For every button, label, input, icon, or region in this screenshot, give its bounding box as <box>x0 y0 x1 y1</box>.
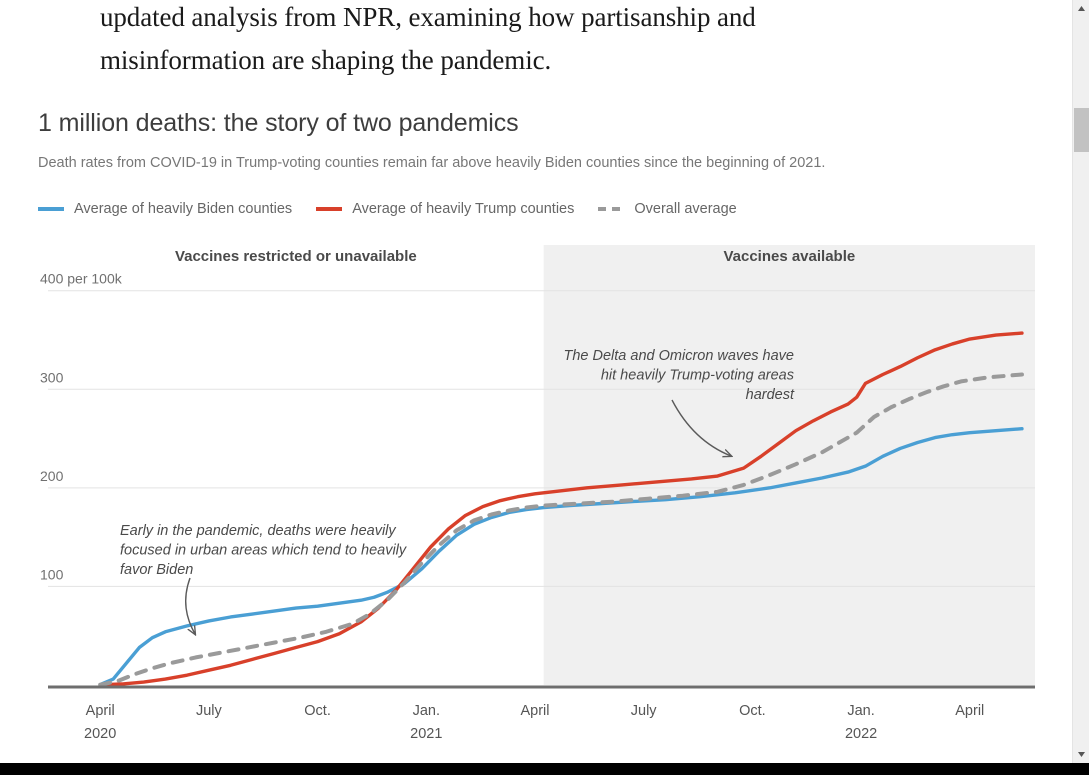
y-axis-tick-label: 300 <box>40 369 64 385</box>
x-axis-tick-label: Oct. <box>739 703 766 719</box>
chart-legend: Average of heavily Biden countiesAverage… <box>38 201 1048 217</box>
x-axis-tick-label: Jan. <box>847 703 874 719</box>
left-page-gutter <box>0 0 14 763</box>
x-axis-year-label: 2021 <box>410 726 442 742</box>
legend-swatch-icon <box>38 207 64 211</box>
x-axis-tick-label: April <box>86 703 115 719</box>
chart-card: 1 million deaths: the story of two pande… <box>38 108 1048 755</box>
x-axis-tick-label: July <box>631 703 658 719</box>
x-axis-tick-label: Jan. <box>413 703 440 719</box>
y-axis-tick-label: 100 <box>40 566 64 582</box>
scroll-up-arrow-icon[interactable] <box>1073 0 1089 17</box>
legend-item-label: Average of heavily Trump counties <box>352 201 574 217</box>
scroll-down-arrow-icon[interactable] <box>1073 746 1089 763</box>
chevron-up-icon <box>1077 5 1086 12</box>
x-axis-tick-label: April <box>520 703 549 719</box>
legend-item-label: Overall average <box>634 201 736 217</box>
chart-title: 1 million deaths: the story of two pande… <box>38 108 1048 138</box>
x-axis-tick-label: Oct. <box>304 703 331 719</box>
chart-annotation-line: favor Biden <box>120 562 193 578</box>
chart-annotation-line: hit heavily Trump-voting areas <box>601 368 794 384</box>
chart-annotation-line: Early in the pandemic, deaths were heavi… <box>120 523 396 539</box>
legend-item[interactable]: Overall average <box>598 201 736 217</box>
legend-swatch-icon <box>598 207 624 211</box>
legend-item[interactable]: Average of heavily Biden counties <box>38 201 292 217</box>
chevron-down-icon <box>1077 751 1086 758</box>
line-chart: 100200300400 per 100kVaccines restricted… <box>38 235 1048 755</box>
legend-swatch-icon <box>316 207 342 211</box>
chart-annotation-line: The Delta and Omicron waves have <box>564 348 795 364</box>
y-axis-tick-label: 200 <box>40 468 64 484</box>
x-axis-tick-label: April <box>955 703 984 719</box>
article-paragraph-text: updated analysis from NPR, examining how… <box>100 0 840 82</box>
x-axis-year-label: 2022 <box>845 726 877 742</box>
vertical-scrollbar[interactable] <box>1072 0 1089 763</box>
legend-item[interactable]: Average of heavily Trump counties <box>316 201 574 217</box>
chart-band-label: Vaccines restricted or unavailable <box>175 248 417 265</box>
article-paragraph: updated analysis from NPR, examining how… <box>100 0 840 82</box>
page-root: updated analysis from NPR, examining how… <box>0 0 1089 775</box>
x-axis-year-label: 2020 <box>84 726 116 742</box>
chart-plot-area: 100200300400 per 100kVaccines restricted… <box>38 235 1048 755</box>
scrollbar-thumb[interactable] <box>1074 108 1089 152</box>
chart-annotation-line: hardest <box>746 387 795 403</box>
legend-item-label: Average of heavily Biden counties <box>74 201 292 217</box>
y-axis-tick-label: 400 per 100k <box>40 271 123 287</box>
x-axis-tick-label: July <box>196 703 223 719</box>
chart-annotation-line: focused in urban areas which tend to hea… <box>120 543 407 559</box>
chart-band-label: Vaccines available <box>723 248 855 265</box>
bottom-black-bar <box>0 763 1089 775</box>
chart-subtitle: Death rates from COVID-19 in Trump-votin… <box>38 154 1048 173</box>
